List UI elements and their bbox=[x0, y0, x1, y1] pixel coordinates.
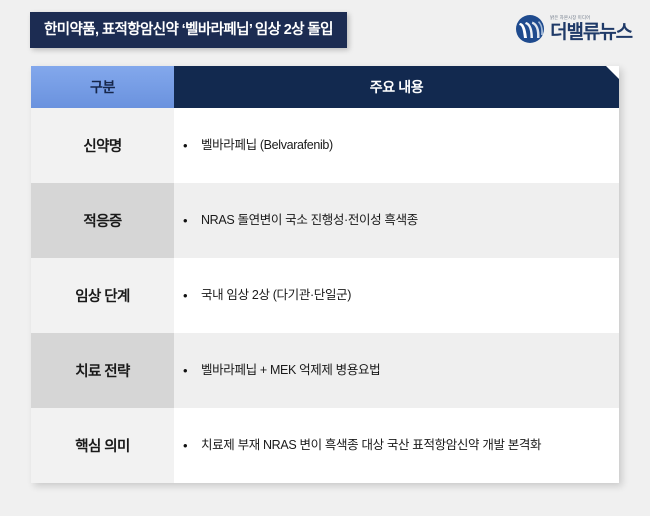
row-content: • 벨바라페닙 + MEK 억제제 병용요법 bbox=[174, 333, 619, 408]
table-row: 치료 전략 • 벨바라페닙 + MEK 억제제 병용요법 bbox=[31, 333, 619, 408]
row-content-text: NRAS 돌연변이 국소 진행성·전이성 흑색종 bbox=[201, 212, 418, 230]
row-content: • 국내 임상 2상 (다기관·단일군) bbox=[174, 258, 619, 333]
row-content: • 벨바라페닙 (Belvarafenib) bbox=[174, 108, 619, 183]
top-bar: 한미약품, 표적항암신약 ‘벨바라페닙’ 임상 2상 돌입 밝은 자본시장 미디… bbox=[0, 0, 650, 56]
bullet-line: • 벨바라페닙 + MEK 억제제 병용요법 bbox=[183, 362, 380, 380]
logo-wordmark: 더밸류뉴스 bbox=[550, 23, 632, 42]
row-label: 임상 단계 bbox=[31, 258, 174, 333]
row-label: 신약명 bbox=[31, 108, 174, 183]
row-content-text: 벨바라페닙 + MEK 억제제 병용요법 bbox=[201, 362, 380, 380]
row-content: • NRAS 돌연변이 국소 진행성·전이성 흑색종 bbox=[174, 183, 619, 258]
logo-text-block: 밝은 자본시장 미디어 더밸류뉴스 bbox=[550, 16, 632, 41]
value-news-emblem-icon bbox=[515, 14, 545, 44]
row-label: 적응증 bbox=[31, 183, 174, 258]
bullet-icon: • bbox=[183, 364, 201, 377]
bullet-icon: • bbox=[183, 289, 201, 302]
summary-table: 구분 주요 내용 신약명 • 벨바라페닙 (Belvarafenib) 적응증 … bbox=[31, 66, 619, 483]
logo-tagline: 밝은 자본시장 미디어 bbox=[550, 16, 632, 21]
table-row: 신약명 • 벨바라페닙 (Belvarafenib) bbox=[31, 108, 619, 183]
column-header-content: 주요 내용 bbox=[174, 66, 619, 108]
site-logo[interactable]: 밝은 자본시장 미디어 더밸류뉴스 bbox=[515, 12, 632, 46]
column-header-label: 구분 bbox=[31, 66, 174, 108]
bullet-icon: • bbox=[183, 139, 201, 152]
row-label: 핵심 의미 bbox=[31, 408, 174, 483]
bullet-icon: • bbox=[183, 439, 201, 452]
bullet-line: • 벨바라페닙 (Belvarafenib) bbox=[183, 137, 333, 155]
table-row: 핵심 의미 • 치료제 부재 NRAS 변이 흑색종 대상 국산 표적항암신약 … bbox=[31, 408, 619, 483]
row-label: 치료 전략 bbox=[31, 333, 174, 408]
row-content-text: 치료제 부재 NRAS 변이 흑색종 대상 국산 표적항암신약 개발 본격화 bbox=[201, 437, 541, 455]
table-header-row: 구분 주요 내용 bbox=[31, 66, 619, 108]
bullet-line: • NRAS 돌연변이 국소 진행성·전이성 흑색종 bbox=[183, 212, 418, 230]
title-banner: 한미약품, 표적항암신약 ‘벨바라페닙’ 임상 2상 돌입 bbox=[30, 12, 347, 48]
bullet-line: • 치료제 부재 NRAS 변이 흑색종 대상 국산 표적항암신약 개발 본격화 bbox=[183, 437, 541, 455]
row-content-text: 국내 임상 2상 (다기관·단일군) bbox=[201, 287, 351, 305]
page-title: 한미약품, 표적항암신약 ‘벨바라페닙’ 임상 2상 돌입 bbox=[44, 23, 333, 38]
table-row: 임상 단계 • 국내 임상 2상 (다기관·단일군) bbox=[31, 258, 619, 333]
row-content-text: 벨바라페닙 (Belvarafenib) bbox=[201, 137, 333, 155]
table-row: 적응증 • NRAS 돌연변이 국소 진행성·전이성 흑색종 bbox=[31, 183, 619, 258]
bullet-icon: • bbox=[183, 214, 201, 227]
row-content: • 치료제 부재 NRAS 변이 흑색종 대상 국산 표적항암신약 개발 본격화 bbox=[174, 408, 619, 483]
bullet-line: • 국내 임상 2상 (다기관·단일군) bbox=[183, 287, 351, 305]
